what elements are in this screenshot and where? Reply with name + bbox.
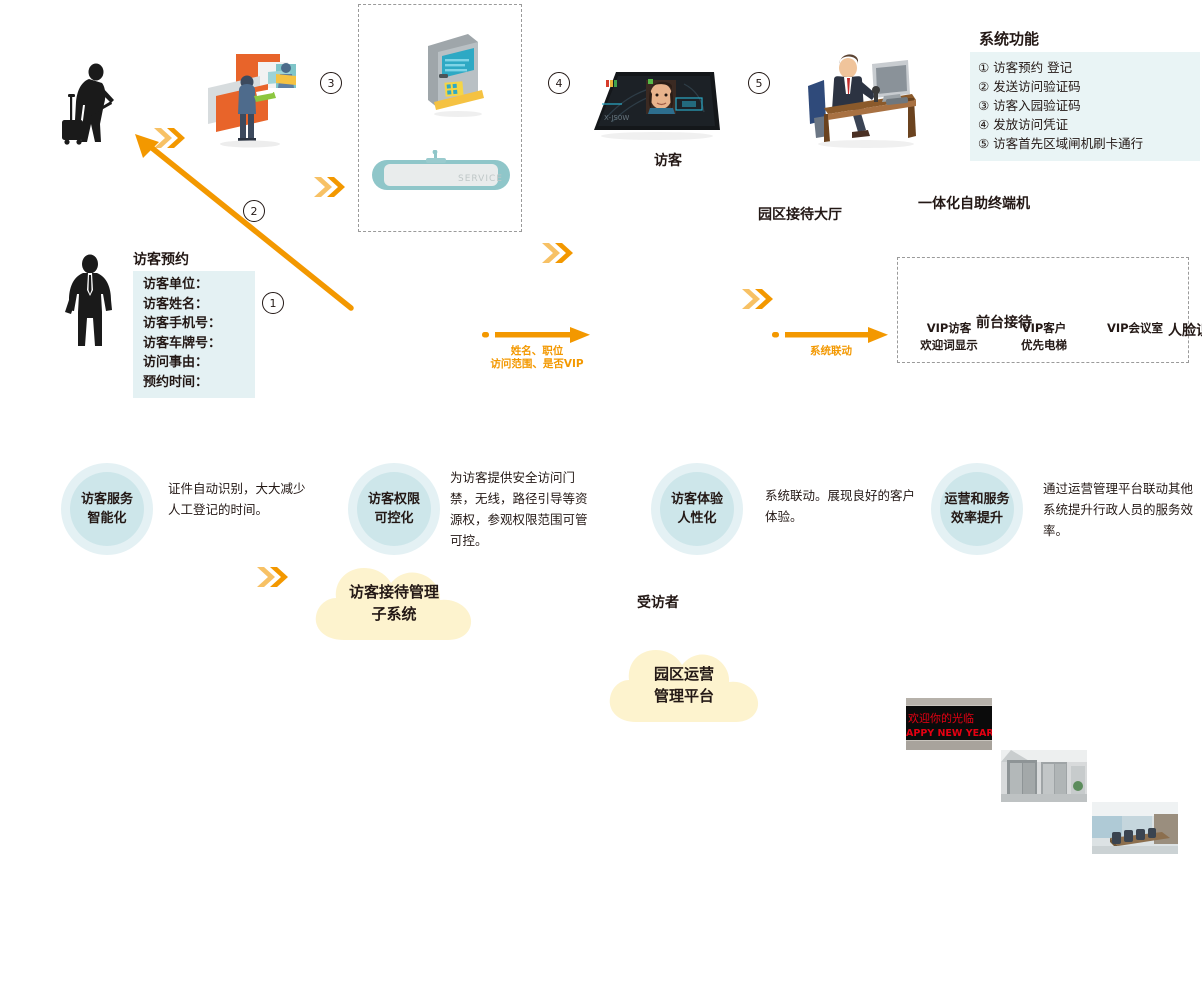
- booking-field-name: 访客姓名：: [143, 295, 245, 315]
- data-flow-arrow-1-label: 姓名、职位 访问范围、是否VIP: [482, 345, 592, 371]
- booking-form-title: 访客预约: [133, 249, 189, 269]
- system-function-item: ③ 访客入园验证码: [978, 96, 1190, 115]
- host-person-icon: [55, 250, 125, 360]
- booking-field-unit: 访客单位：: [143, 275, 245, 295]
- svg-text:X-JS0W: X-JS0W: [604, 114, 629, 122]
- vip-meeting-room-image: [1092, 802, 1178, 854]
- benefit-item-4: 运营和服务 效率提升: [931, 463, 1023, 555]
- chevron-booking-to-subsystem-icon: [255, 564, 289, 590]
- svg-text:APPY NEW YEAR: APPY NEW YEAR: [906, 728, 992, 739]
- park-platform-cloud: 园区运营 管理平台: [604, 644, 764, 726]
- kiosk-icon: [412, 30, 488, 118]
- benefit-item-3: 访客体验 人性化: [651, 463, 743, 555]
- vip-visitor-led-image: 欢迎你的光临 APPY NEW YEAR: [906, 698, 992, 750]
- system-functions-title: 系统功能: [979, 28, 1039, 49]
- benefit-circle-3: 访客体验 人性化: [651, 463, 743, 555]
- booking-form: 访客单位： 访客姓名： 访客手机号： 访客车牌号： 访问事由： 预约时间：: [133, 271, 255, 398]
- system-function-item: ② 发送访问验证码: [978, 77, 1190, 96]
- visitor-label: 访客: [67, 150, 1202, 170]
- benefit-item-2: 访客权限 可控化: [348, 463, 440, 555]
- benefit-title-1: 访客服务 智能化: [81, 490, 133, 528]
- chevron-gate-to-office-icon: [740, 286, 774, 312]
- booking-field-reason: 访问事由：: [143, 353, 245, 373]
- benefit-circle-1: 访客服务 智能化: [61, 463, 153, 555]
- related-systems-title: 关联子系统: [983, 962, 1202, 983]
- step-number-5: 5: [748, 72, 770, 94]
- system-function-item: ① 访客预约 登记: [978, 58, 1190, 77]
- benefit-title-3: 访客体验 人性化: [671, 490, 723, 528]
- data-flow-arrow-2-label: 系统联动: [772, 345, 890, 358]
- face-gate-label: 人脸识别闸机: [609, 320, 1202, 340]
- benefit-desc-3: 系统联动。展现良好的客户体验。: [765, 485, 917, 527]
- face-recognition-gate-icon: X-JS0W: [588, 60, 724, 142]
- step-number-1: 1: [262, 292, 284, 314]
- step-number-4: 4: [548, 72, 570, 94]
- benefit-desc-4: 通过运营管理平台联动其他系统提升行政人员的服务效率。: [1043, 478, 1193, 541]
- benefit-desc-2: 为访客提供安全访问门禁，无线，路径引导等资源权，参观权限范围可管可控。: [450, 467, 598, 551]
- system-functions-panel: ① 访客预约 登记 ② 发送访问验证码 ③ 访客入园验证码 ④ 发放访问凭证 ⑤…: [970, 52, 1200, 161]
- svg-text:SERVICE: SERVICE: [458, 174, 503, 184]
- vip-elevator-image: [1001, 750, 1087, 802]
- park-platform-text: 园区运营 管理平台: [604, 644, 764, 726]
- benefit-circle-2: 访客权限 可控化: [348, 463, 440, 555]
- system-function-item: ④ 发放访问凭证: [978, 115, 1190, 134]
- benefit-title-4: 运营和服务 效率提升: [944, 490, 1009, 528]
- office-area-icon: [790, 50, 920, 150]
- office-area-label: 办公区域: [812, 366, 1202, 386]
- step-number-3: 3: [320, 72, 342, 94]
- benefit-item-1: 访客服务 智能化: [61, 463, 153, 555]
- booking-field-time: 预约时间：: [143, 373, 245, 393]
- svg-text:欢迎你的光临: 欢迎你的光临: [908, 711, 974, 725]
- benefit-circle-4: 运营和服务 效率提升: [931, 463, 1023, 555]
- booking-field-phone: 访客手机号：: [143, 314, 245, 334]
- chevron-kiosk-to-gate-icon: [540, 240, 574, 266]
- benefit-title-2: 访客权限 可控化: [368, 490, 420, 528]
- host-label: 受访者: [57, 592, 1202, 612]
- kiosk-label: 一体化自助终端机: [373, 193, 1202, 213]
- benefit-desc-1: 证件自动识别，大大减少人工登记的时间。: [168, 478, 316, 520]
- booking-field-plate: 访客车牌号：: [143, 334, 245, 354]
